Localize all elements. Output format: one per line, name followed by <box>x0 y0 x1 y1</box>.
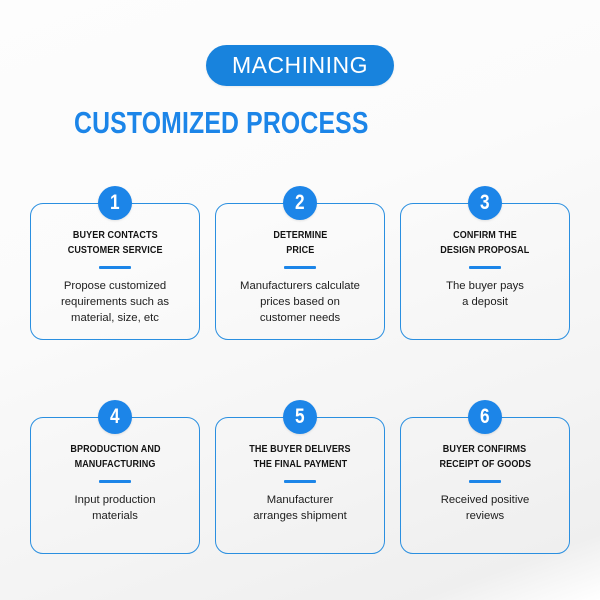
step-number-badge: 4 <box>98 400 132 434</box>
step-title-line1: BUYER CONFIRMS <box>443 442 526 457</box>
step-title-line1: DETERMINE <box>273 228 327 243</box>
step-body-line2: arranges shipment <box>253 508 347 524</box>
step-number-badge: 5 <box>283 400 317 434</box>
step-body: Input production materials <box>74 492 155 524</box>
step-body: Propose customized requirements such as … <box>61 278 169 326</box>
step-body-line2: reviews <box>441 508 530 524</box>
step-body-line2: a deposit <box>446 294 524 310</box>
step-body: Manufacturers calculate prices based on … <box>240 278 360 326</box>
step-title-line2: PRICE <box>286 243 314 258</box>
step-title-line2: CUSTOMER SERVICE <box>68 243 163 258</box>
step-title-line2: THE FINAL PAYMENT <box>253 457 347 472</box>
step-number-text: 4 <box>110 400 120 434</box>
step-title-line1: THE BUYER DELIVERS <box>249 442 350 457</box>
step-number-text: 2 <box>295 186 305 220</box>
machining-badge: MACHINING <box>206 45 394 86</box>
title-divider <box>469 480 501 483</box>
process-steps-grid: 1 BUYER CONTACTS CUSTOMER SERVICE Propos… <box>30 186 570 554</box>
process-step: 1 BUYER CONTACTS CUSTOMER SERVICE Propos… <box>30 186 200 340</box>
step-card: THE BUYER DELIVERS THE FINAL PAYMENT Man… <box>215 417 385 554</box>
step-title-line1: CONFIRM THE <box>453 228 517 243</box>
process-step: 3 CONFIRM THE DESIGN PROPOSAL The buyer … <box>400 186 570 340</box>
title-divider <box>284 480 316 483</box>
step-card: BUYER CONTACTS CUSTOMER SERVICE Propose … <box>30 203 200 340</box>
title-divider <box>99 266 131 269</box>
step-title-line2: DESIGN PROPOSAL <box>440 243 529 258</box>
step-title-line1: BPRODUCTION AND <box>70 442 160 457</box>
step-card: BUYER CONFIRMS RECEIPT OF GOODS Received… <box>400 417 570 554</box>
title-divider <box>99 480 131 483</box>
step-body: The buyer pays a deposit <box>446 278 524 310</box>
step-card: BPRODUCTION AND MANUFACTURING Input prod… <box>30 417 200 554</box>
process-step: 5 THE BUYER DELIVERS THE FINAL PAYMENT M… <box>215 400 385 554</box>
step-body-line1: The buyer pays <box>446 278 524 294</box>
step-body-line1: Manufacturer <box>253 492 347 508</box>
step-body-line2: requirements such as <box>61 294 169 310</box>
step-title-line2: MANUFACTURING <box>75 457 156 472</box>
process-step: 4 BPRODUCTION AND MANUFACTURING Input pr… <box>30 400 200 554</box>
step-body-line3: material, size, etc <box>61 310 169 326</box>
badge-row: MACHINING <box>0 45 600 86</box>
step-number-text: 6 <box>480 400 490 434</box>
process-step: 2 DETERMINE PRICE Manufacturers calculat… <box>215 186 385 340</box>
page-title: CUSTOMIZED PROCESS <box>74 106 369 140</box>
step-body-line2: prices based on <box>240 294 360 310</box>
step-number-text: 3 <box>480 186 490 220</box>
step-number-badge: 6 <box>468 400 502 434</box>
step-body-line1: Propose customized <box>61 278 169 294</box>
title-divider <box>469 266 501 269</box>
step-number-badge: 1 <box>98 186 132 220</box>
step-body-line3: customer needs <box>240 310 360 326</box>
step-body: Received positive reviews <box>441 492 530 524</box>
step-body-line1: Manufacturers calculate <box>240 278 360 294</box>
step-title-line2: RECEIPT OF GOODS <box>439 457 531 472</box>
step-number-badge: 2 <box>283 186 317 220</box>
step-number-text: 5 <box>295 400 305 434</box>
step-body-line2: materials <box>74 508 155 524</box>
step-card: DETERMINE PRICE Manufacturers calculate … <box>215 203 385 340</box>
process-step: 6 BUYER CONFIRMS RECEIPT OF GOODS Receiv… <box>400 400 570 554</box>
step-card: CONFIRM THE DESIGN PROPOSAL The buyer pa… <box>400 203 570 340</box>
step-body: Manufacturer arranges shipment <box>253 492 347 524</box>
step-body-line1: Input production <box>74 492 155 508</box>
step-title-line1: BUYER CONTACTS <box>73 228 158 243</box>
step-body-line1: Received positive <box>441 492 530 508</box>
title-divider <box>284 266 316 269</box>
step-number-text: 1 <box>110 186 120 220</box>
step-number-badge: 3 <box>468 186 502 220</box>
infographic-poster: MACHINING CUSTOMIZED PROCESS 1 BUYER CON… <box>0 0 600 600</box>
